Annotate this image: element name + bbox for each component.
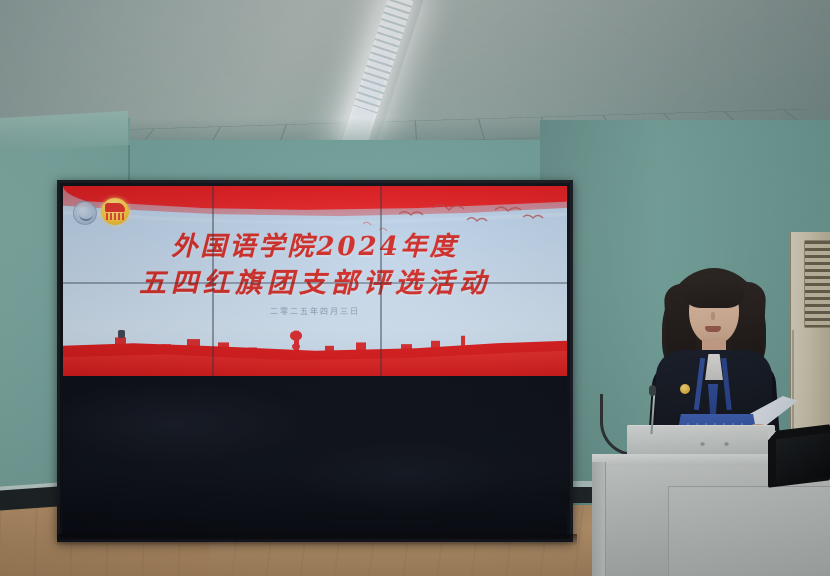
speaker-hair-front — [684, 274, 744, 308]
microphone-head — [649, 385, 656, 396]
confidence-monitor-screen — [776, 433, 830, 484]
podium-left-edge — [592, 462, 606, 576]
video-wall[interactable]: 外国语学院2024年度 五四红旗团支部评选活动 二零二五年四月三日 — [57, 180, 573, 542]
video-wall-indicator — [118, 330, 125, 338]
speaker-nose — [711, 312, 715, 320]
screenshot-root: 外国语学院2024年度 五四红旗团支部评选活动 二零二五年四月三日 — [0, 0, 830, 576]
podium-fastener-2 — [724, 441, 729, 446]
podium-fastener-1 — [700, 441, 705, 446]
speaker-mouth — [705, 326, 721, 332]
video-wall-floor-shadow — [57, 534, 577, 546]
left-soffit — [0, 111, 128, 152]
air-conditioner-vent — [804, 240, 830, 328]
podium-front-panel — [668, 486, 830, 576]
video-wall-frame — [57, 180, 573, 542]
lapel-badge-icon — [680, 384, 690, 394]
